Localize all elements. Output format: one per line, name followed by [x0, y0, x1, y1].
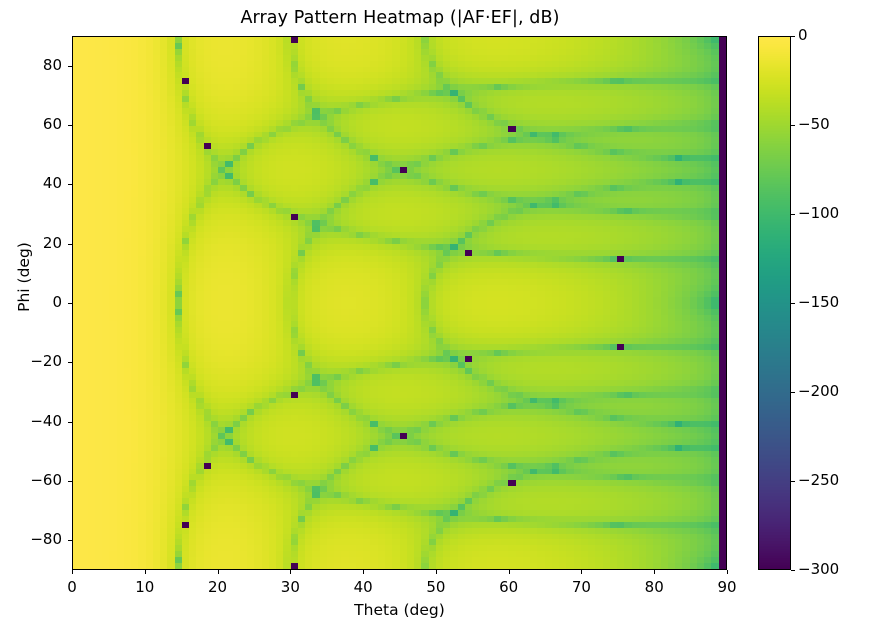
colorbar-tick-label: −300: [798, 560, 839, 578]
x-tick-mark: [727, 570, 728, 574]
y-tick-mark: [68, 66, 72, 67]
y-axis-label: Phi (deg): [15, 187, 33, 367]
x-tick-label: 60: [479, 578, 539, 596]
colorbar-tick-mark: [791, 214, 795, 215]
x-tick-mark: [72, 570, 73, 574]
x-tick-label: 80: [624, 578, 684, 596]
y-tick-label: −80: [0, 530, 62, 548]
array-pattern-figure: Array Pattern Heatmap (|AF·EF|, dB) 0102…: [0, 0, 885, 637]
x-tick-mark: [145, 570, 146, 574]
chart-title: Array Pattern Heatmap (|AF·EF|, dB): [0, 8, 800, 28]
colorbar-tick-mark: [791, 570, 795, 571]
x-tick-label: 40: [333, 578, 393, 596]
colorbar-tick-label: −100: [798, 204, 839, 222]
x-tick-mark: [581, 570, 582, 574]
x-tick-mark: [436, 570, 437, 574]
y-tick-mark: [68, 303, 72, 304]
y-tick-mark: [68, 481, 72, 482]
heatmap-plot-area: [72, 36, 727, 570]
y-tick-label: −60: [0, 471, 62, 489]
y-tick-mark: [68, 362, 72, 363]
colorbar-tick-label: −200: [798, 382, 839, 400]
x-tick-label: 70: [551, 578, 611, 596]
x-tick-label: 30: [260, 578, 320, 596]
colorbar-gradient: [759, 37, 790, 569]
x-axis-label: Theta (deg): [72, 601, 727, 619]
y-tick-mark: [68, 422, 72, 423]
colorbar-tick-mark: [791, 392, 795, 393]
x-tick-label: 20: [188, 578, 248, 596]
y-tick-mark: [68, 244, 72, 245]
colorbar-tick-label: 0: [798, 26, 808, 44]
y-tick-mark: [68, 540, 72, 541]
x-tick-mark: [290, 570, 291, 574]
x-tick-label: 90: [697, 578, 757, 596]
x-tick-label: 10: [115, 578, 175, 596]
x-tick-label: 50: [406, 578, 466, 596]
x-tick-label: 0: [42, 578, 102, 596]
y-tick-label: −40: [0, 412, 62, 430]
colorbar-tick-mark: [791, 36, 795, 37]
y-tick-label: 60: [0, 115, 62, 133]
y-tick-label: 80: [0, 56, 62, 74]
colorbar-tick-mark: [791, 481, 795, 482]
colorbar-tick-label: −250: [798, 471, 839, 489]
colorbar-tick-label: −50: [798, 115, 830, 133]
x-tick-mark: [218, 570, 219, 574]
x-tick-mark: [363, 570, 364, 574]
colorbar: [758, 36, 791, 570]
colorbar-tick-label: −150: [798, 293, 839, 311]
y-tick-mark: [68, 125, 72, 126]
y-tick-mark: [68, 184, 72, 185]
x-tick-mark: [509, 570, 510, 574]
x-tick-mark: [654, 570, 655, 574]
heatmap-image: [73, 37, 726, 569]
colorbar-tick-mark: [791, 125, 795, 126]
colorbar-tick-mark: [791, 303, 795, 304]
